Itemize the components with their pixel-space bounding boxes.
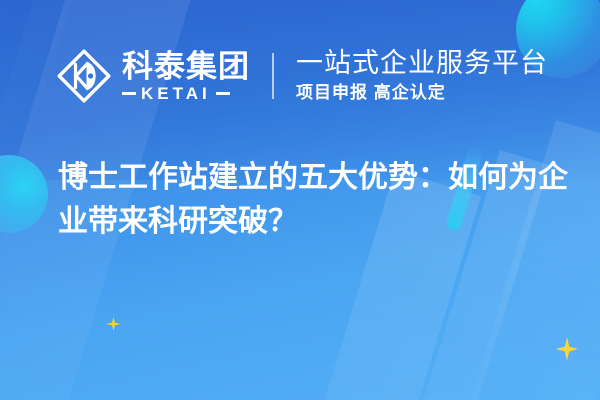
ketai-diamond-kd-monogram-icon bbox=[56, 48, 112, 104]
tagline-secondary: 项目申报 高企认定 bbox=[296, 82, 548, 104]
brand-name-cn: 科泰集团 bbox=[122, 50, 250, 83]
header-divider bbox=[272, 53, 274, 99]
wordmark-dash-right bbox=[216, 92, 230, 95]
four-point-star-icon bbox=[106, 317, 121, 331]
banner-header: 科泰集团 KETAI 一站式企业服务平台 项目申报 高企认定 bbox=[0, 40, 600, 112]
brand-name-en: KETAI bbox=[136, 85, 216, 103]
promo-banner: 科泰集团 KETAI 一站式企业服务平台 项目申报 高企认定 博士工作站建立的五… bbox=[0, 0, 600, 400]
brand-wordmark: 科泰集团 KETAI bbox=[122, 50, 250, 103]
brand-name-en-row: KETAI bbox=[122, 85, 250, 103]
wordmark-dash-left bbox=[122, 92, 136, 95]
header-tagline: 一站式企业服务平台 项目申报 高企认定 bbox=[296, 48, 548, 104]
brand-logo[interactable]: 科泰集团 KETAI bbox=[56, 48, 250, 104]
tagline-primary: 一站式企业服务平台 bbox=[296, 48, 548, 79]
page-title: 博士工作站建立的五大优势：如何为企业带来科研突破？ bbox=[58, 156, 568, 244]
